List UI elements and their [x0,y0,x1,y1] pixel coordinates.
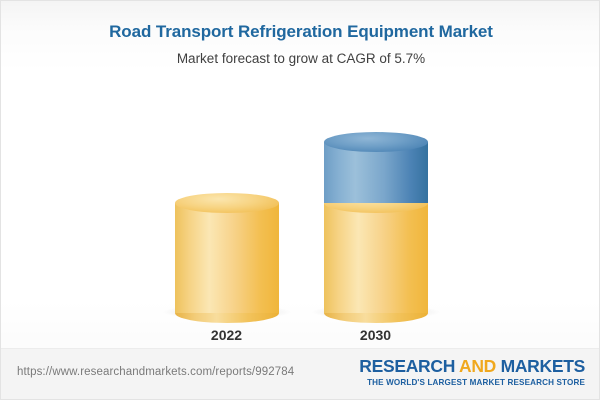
research-and-markets-logo[interactable]: RESEARCH AND MARKETS THE WORLD'S LARGEST… [359,357,585,388]
segment-top-ellipse [175,193,279,213]
report-url-link[interactable]: https://www.researchandmarkets.com/repor… [17,366,294,378]
footer-bar: https://www.researchandmarkets.com/repor… [1,348,599,399]
logo-word-research: RESEARCH [359,356,455,376]
bar-segment-base-2022[interactable] [175,203,279,313]
x-axis-tick-2030: 2030 [298,327,453,343]
chart-subtitle: Market forecast to grow at CAGR of 5.7% [1,49,600,69]
chart-header: Road Transport Refrigeration Equipment M… [1,1,600,69]
logo-wordmark: RESEARCH AND MARKETS [359,357,585,376]
bar-segment-growth-2030[interactable] [324,142,428,203]
bar-cylinder-2030[interactable] [324,142,428,313]
segment-top-ellipse [324,132,428,152]
bar-segment-base-2030[interactable] [324,203,428,313]
chart-plot-area: USD 4.3 Billion 2022 USD 6.7 Billion [1,87,600,347]
page-title: Road Transport Refrigeration Equipment M… [1,21,600,43]
x-axis-tick-2022: 2022 [149,327,304,343]
logo-word-and: AND [455,356,501,376]
infographic-card: Road Transport Refrigeration Equipment M… [0,0,600,400]
segment-body [175,203,279,313]
segment-body [324,203,428,313]
logo-tagline: THE WORLD'S LARGEST MARKET RESEARCH STOR… [359,377,585,388]
logo-word-markets: MARKETS [501,356,585,376]
bar-cylinder-2022[interactable] [175,203,279,313]
